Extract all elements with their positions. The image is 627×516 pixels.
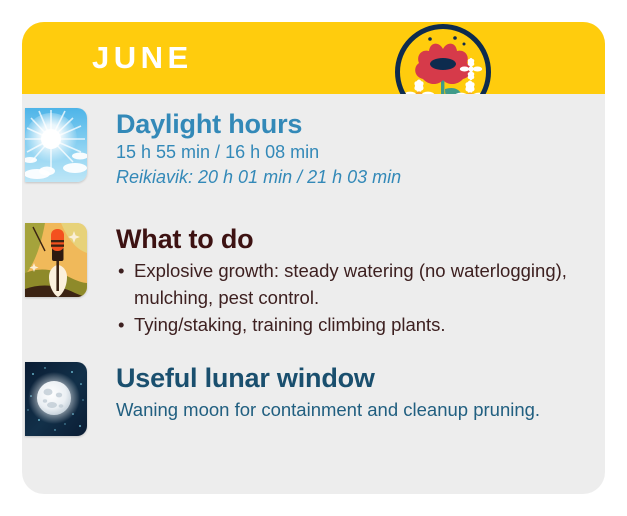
list-item-text: Explosive growth: steady watering (no wa… <box>134 260 567 308</box>
list-item: • Tying/staking, training climbing plant… <box>116 311 586 338</box>
section-body-lunar: Useful lunar window Waning moon for cont… <box>116 362 586 423</box>
section-body-daylight: Daylight hours 15 h 55 min / 16 h 08 min… <box>116 108 586 190</box>
list-item: • Explosive growth: steady watering (no … <box>116 257 586 311</box>
list-item-text: Tying/staking, training climbing plants. <box>134 314 446 335</box>
month-card: JUNE <box>22 22 605 494</box>
bullet-glyph: • <box>118 311 124 338</box>
section-title-what-to-do: What to do <box>116 223 586 255</box>
daylight-hours-reference-city: Reikiavik: 20 h 01 min / 21 h 03 min <box>116 165 586 190</box>
section-title-daylight: Daylight hours <box>116 108 586 140</box>
lunar-window-description: Waning moon for containment and cleanup … <box>116 396 546 423</box>
daylight-hours-value: 15 h 55 min / 16 h 08 min <box>116 140 586 165</box>
bullet-glyph: • <box>118 257 124 284</box>
section-title-lunar-window: Useful lunar window <box>116 362 586 394</box>
sun-sky-icon <box>25 108 87 182</box>
flower-emblem-ring <box>395 24 491 94</box>
section-body-what-to-do: What to do • Explosive growth: steady wa… <box>116 223 586 338</box>
full-moon-night-icon <box>25 362 87 436</box>
card-header: JUNE <box>22 22 605 94</box>
page-title: JUNE <box>92 38 193 78</box>
what-to-do-list: • Explosive growth: steady watering (no … <box>116 257 586 338</box>
flower-emblem <box>395 24 491 94</box>
garden-trowel-icon <box>25 223 87 297</box>
page-root: JUNE <box>0 0 627 516</box>
